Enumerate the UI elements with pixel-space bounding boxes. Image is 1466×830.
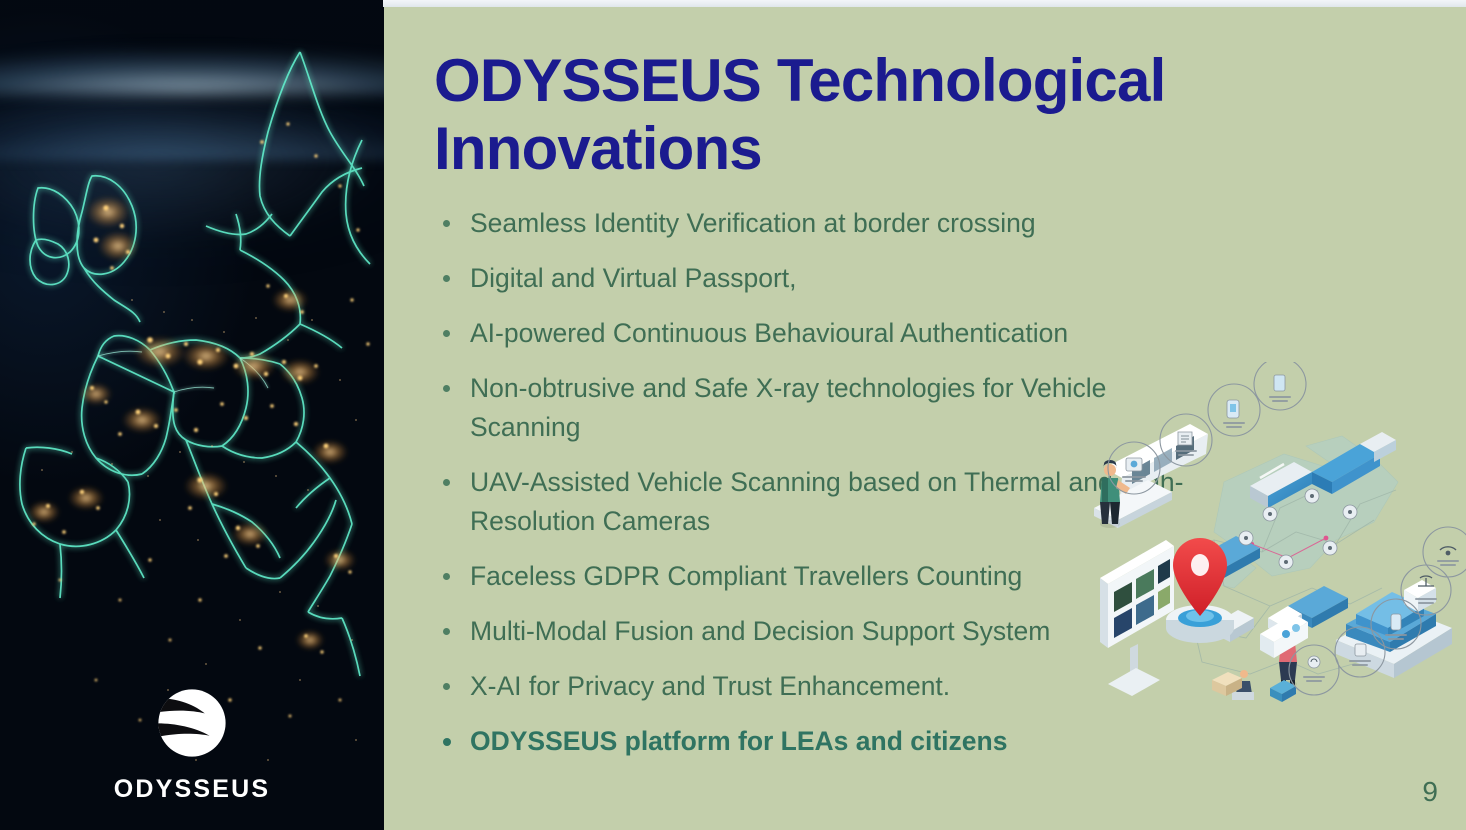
- bullet-item: Multi-Modal Fusion and Decision Support …: [434, 612, 1224, 651]
- bullet-item: UAV-Assisted Vehicle Scanning based on T…: [434, 463, 1224, 541]
- odysseus-globe-logo-icon: [152, 683, 232, 763]
- slide-number: 9: [1422, 776, 1438, 808]
- slide-top-edge-strip: [383, 0, 1466, 7]
- bullet-item: Digital and Virtual Passport,: [434, 259, 1224, 298]
- bullet-item: Non-obtrusive and Safe X-ray technologie…: [434, 369, 1224, 447]
- slide-content-panel: ODYSSEUS Technological Innovations Seaml…: [384, 0, 1466, 830]
- bullet-item: AI-powered Continuous Behavioural Authen…: [434, 314, 1224, 353]
- brand-wordmark: ODYSSEUS: [0, 775, 384, 804]
- innovations-bullet-list: Seamless Identity Verification at border…: [434, 204, 1224, 760]
- bullet-item: ODYSSEUS platform for LEAs and citizens: [434, 722, 1224, 761]
- bullet-item: Faceless GDPR Compliant Travellers Count…: [434, 557, 1224, 596]
- bullet-item: X-AI for Privacy and Trust Enhancement.: [434, 667, 1224, 706]
- bullet-item: Seamless Identity Verification at border…: [434, 204, 1224, 243]
- brand-logo: ODYSSEUS: [0, 683, 384, 804]
- europe-at-night-satellite-image: ODYSSEUS: [0, 0, 384, 830]
- page-title: ODYSSEUS Technological Innovations: [434, 47, 1354, 184]
- presentation-slide: ODYSSEUS ODYSSEUS Technological Innovati…: [0, 0, 1466, 830]
